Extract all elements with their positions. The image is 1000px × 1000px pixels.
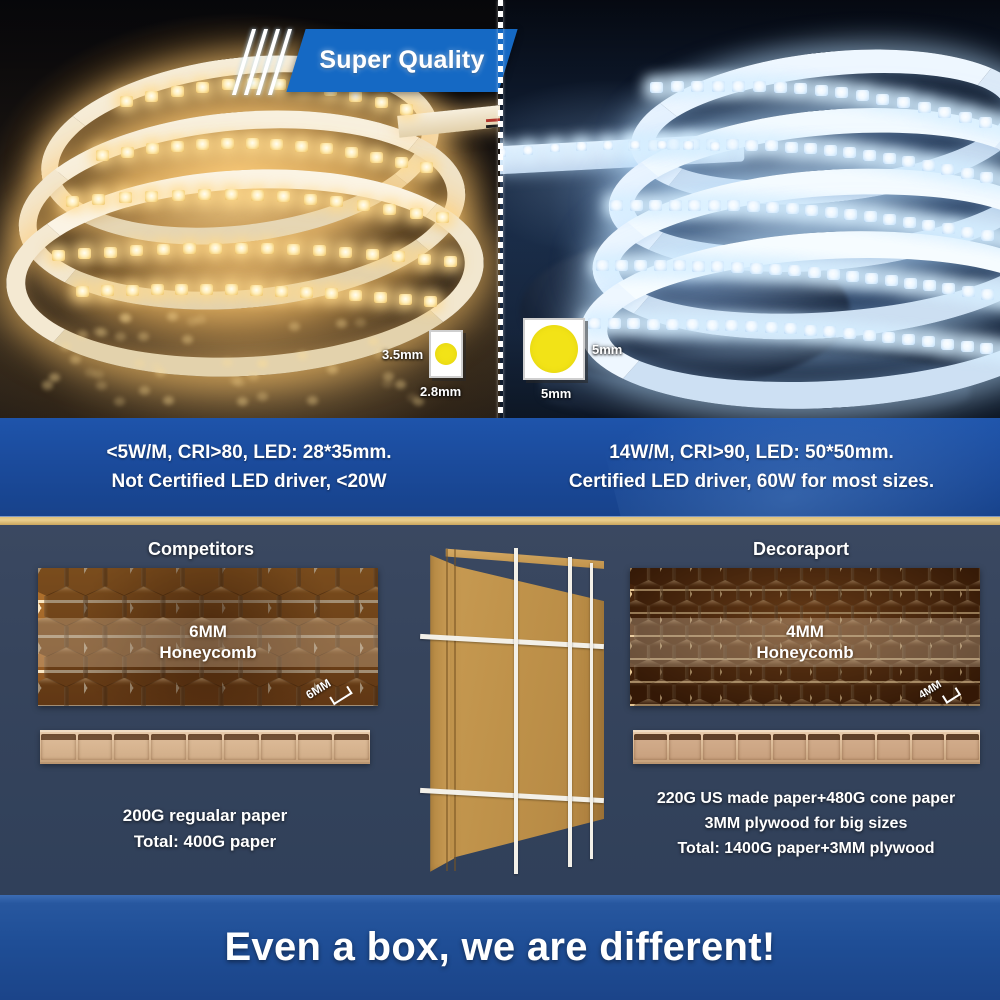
led-reflection	[395, 380, 406, 389]
cross-section-cell	[773, 734, 806, 760]
led-dot	[883, 214, 896, 225]
led-reflection	[230, 376, 241, 385]
led-dot	[883, 153, 896, 164]
led-dot	[596, 260, 609, 271]
box-side-panel	[420, 545, 454, 875]
cross-section-cells-right	[633, 734, 980, 760]
cross-section-cell	[946, 734, 979, 760]
led-reflection	[182, 335, 193, 344]
led-dot	[357, 200, 370, 211]
led-dot	[96, 150, 109, 161]
cross-section-cell	[78, 734, 113, 760]
led-dot	[959, 112, 972, 123]
led-reflection	[355, 318, 366, 327]
led-reflection	[115, 332, 126, 341]
led-dot	[825, 207, 838, 218]
led-dot	[183, 243, 196, 254]
led-dot	[815, 85, 828, 96]
led-dot	[864, 211, 877, 222]
led-dot	[66, 196, 79, 207]
led-dot	[683, 141, 693, 150]
led-dot	[630, 200, 643, 211]
led-reflection	[60, 342, 71, 351]
led-dot	[843, 147, 856, 158]
led-dot	[706, 320, 719, 331]
led-dot	[692, 261, 705, 272]
led-dot	[121, 147, 134, 158]
led-reflection	[114, 397, 125, 406]
led-dot	[287, 244, 300, 255]
cross-section-cell	[334, 734, 369, 760]
led-dot	[784, 323, 797, 334]
led-dot	[885, 275, 898, 286]
box-front-panel	[450, 545, 604, 875]
spec-left-line-2: Not Certified LED driver, <20W	[111, 471, 386, 493]
led-reflection	[289, 322, 300, 331]
pkg-right-line-3: Total: 1400G paper+3MM plywood	[620, 837, 992, 862]
led-dot	[727, 200, 740, 211]
led-reflection	[42, 382, 53, 391]
spec-column-decoraport: 14W/M, CRI>90, LED: 50*50mm. Certified L…	[503, 418, 1000, 516]
cross-section-cells-left	[40, 734, 370, 760]
super-quality-label: Super Quality	[296, 29, 508, 92]
packed-cardboard-box	[418, 545, 604, 875]
led-dot	[615, 260, 628, 271]
led-dot	[981, 289, 994, 300]
led-dot	[630, 141, 640, 150]
led-dot	[938, 107, 951, 118]
cross-section-cell	[114, 734, 149, 760]
led-dot	[444, 256, 457, 267]
cross-section-cell	[808, 734, 841, 760]
led-dot	[247, 78, 260, 89]
led-reflection	[407, 393, 418, 402]
cross-section-cell	[912, 734, 945, 760]
chip-height-label-small: 3.5mm	[382, 347, 423, 362]
led-dot	[918, 102, 931, 113]
led-dot	[400, 104, 413, 115]
box-strap-vertical	[568, 557, 572, 867]
led-dot	[731, 262, 744, 273]
packaging-comparison-section: Competitors Decoraport 6MM Honeycomb 6MM…	[0, 525, 1000, 895]
box-seam	[454, 549, 456, 871]
honeycomb-size-word-right: Honeycomb	[756, 643, 853, 663]
led-dot	[922, 160, 935, 171]
led-dot	[863, 330, 876, 341]
led-dot	[726, 139, 739, 150]
led-dot	[882, 332, 895, 343]
led-dot	[794, 83, 807, 94]
led-dot	[550, 144, 560, 153]
box-strap-vertical	[590, 563, 593, 859]
led-dot	[673, 260, 686, 271]
led-dot	[865, 273, 878, 284]
led-dot	[856, 90, 869, 101]
spec-left-line-1: <5W/M, CRI>80, LED: 28*35mm.	[106, 442, 391, 464]
led-reflection	[139, 386, 150, 395]
led-dot	[200, 284, 213, 295]
led-dot	[410, 208, 423, 219]
led-reflection	[134, 359, 145, 368]
cross-section-cell	[703, 734, 736, 760]
chip-height-label-large: 5mm	[592, 342, 622, 357]
led-dot	[145, 91, 158, 102]
led-dot	[246, 138, 259, 149]
led-dot	[863, 150, 876, 161]
led-dot	[277, 191, 290, 202]
packaging-spec-competitors: 200G regualar paper Total: 400G paper	[30, 803, 380, 856]
led-dot	[235, 243, 248, 254]
led-dot	[304, 194, 317, 205]
led-dot	[52, 250, 65, 261]
led-dot	[339, 247, 352, 258]
led-dot	[650, 82, 663, 93]
honeycomb-cross-section-competitors	[40, 730, 370, 764]
led-reflection	[187, 317, 198, 326]
led-reflection	[248, 372, 259, 381]
spec-right-line-1: 14W/M, CRI>90, LED: 50*50mm.	[609, 442, 894, 464]
led-dot	[157, 244, 170, 255]
led-dot	[750, 263, 763, 274]
led-dot	[76, 286, 89, 297]
led-dot	[979, 117, 992, 128]
tagline-text: Even a box, we are different!	[224, 925, 775, 970]
led-dot	[835, 87, 848, 98]
led-dot	[786, 203, 799, 214]
column-title-competitors: Competitors	[148, 539, 254, 560]
led-dot	[126, 285, 139, 296]
led-dot	[657, 141, 667, 150]
led-dot	[765, 140, 778, 151]
led-dot	[649, 200, 662, 211]
infographic-page: Super Quality 3.5mm 2.8mm 5mm 5mm <5W/M,…	[0, 0, 1000, 1000]
led-dot	[941, 339, 954, 350]
led-dot	[745, 140, 758, 151]
led-dot	[275, 286, 288, 297]
led-dot	[366, 249, 379, 260]
led-dot	[225, 189, 238, 200]
led-dot	[101, 285, 114, 296]
led-dot	[745, 321, 758, 332]
honeycomb-cross-section-decoraport	[633, 730, 980, 764]
led-dot	[374, 292, 387, 303]
led-dot	[320, 143, 333, 154]
cross-section-cell	[877, 734, 910, 760]
led-dot	[961, 341, 974, 352]
led-reflection	[336, 319, 347, 328]
led-reflection	[97, 328, 108, 337]
led-dot	[747, 201, 760, 212]
honeycomb-size-overlay-right: 4MM Honeycomb	[630, 618, 980, 668]
box-strap-vertical	[514, 548, 518, 874]
honeycomb-size-word-left: Honeycomb	[159, 643, 256, 663]
led-dot	[634, 260, 647, 271]
led-dot	[902, 334, 915, 345]
chip-phosphor-dot	[530, 325, 578, 373]
led-chip-icon-small	[429, 330, 463, 378]
led-reflection	[327, 365, 338, 374]
led-dot	[78, 248, 91, 259]
led-dot	[300, 287, 313, 298]
led-dot	[961, 168, 974, 179]
led-dot	[221, 138, 234, 149]
led-dot	[804, 143, 817, 154]
chip-width-label-small: 2.8mm	[420, 384, 461, 399]
led-reflection	[96, 381, 107, 390]
led-dot	[823, 326, 836, 337]
pkg-left-line-1: 200G regualar paper	[30, 803, 380, 829]
led-dot	[172, 190, 185, 201]
led-dot	[222, 79, 235, 90]
led-dot	[922, 220, 935, 231]
led-dot	[824, 145, 837, 156]
led-reflection	[368, 337, 379, 346]
chip-phosphor-dot	[435, 343, 457, 365]
led-reflection	[257, 392, 268, 401]
led-dot	[686, 319, 699, 330]
led-dot	[146, 143, 159, 154]
led-dot	[876, 94, 889, 105]
chip-width-label-large: 5mm	[541, 386, 571, 401]
gold-separator-strip	[0, 516, 1000, 525]
led-dot	[671, 81, 684, 92]
led-dot	[827, 269, 840, 280]
led-dot	[345, 147, 358, 158]
cross-section-cell	[261, 734, 296, 760]
led-dot	[808, 267, 821, 278]
led-dot	[753, 81, 766, 92]
honeycomb-image-decoraport: 4MM Honeycomb 4MM	[630, 568, 980, 706]
led-chip-callout-large: 5mm 5mm	[523, 318, 622, 380]
led-dot	[610, 200, 623, 211]
led-dot	[942, 223, 955, 234]
led-reflection	[222, 358, 233, 367]
honeycomb-size-value-right: 4MM	[786, 622, 824, 642]
led-dot	[688, 200, 701, 211]
led-dot	[349, 290, 362, 301]
cross-section-cell	[188, 734, 223, 760]
led-chip-callout-small: 3.5mm 2.8mm	[382, 330, 463, 378]
honeycomb-image-competitors: 6MM Honeycomb 6MM	[38, 568, 378, 706]
led-dot	[897, 97, 910, 108]
led-dot	[903, 217, 916, 228]
led-dot	[804, 325, 817, 336]
led-dot	[418, 254, 431, 265]
led-reflection	[257, 359, 268, 368]
led-dot	[774, 82, 787, 93]
cross-section-cell	[738, 734, 771, 760]
led-dot	[691, 81, 704, 92]
led-dot	[654, 260, 667, 271]
led-dot	[576, 142, 586, 151]
led-dot	[151, 284, 164, 295]
led-dot	[420, 162, 433, 173]
led-dot	[330, 196, 343, 207]
led-dot	[399, 294, 412, 305]
led-dot	[175, 284, 188, 295]
led-dot	[392, 251, 405, 262]
led-dot	[523, 146, 533, 155]
honeycomb-size-overlay-left: 6MM Honeycomb	[38, 618, 378, 668]
led-reflection	[155, 368, 166, 377]
led-dot	[383, 204, 396, 215]
led-dot	[375, 97, 388, 108]
led-dot	[198, 189, 211, 200]
specification-band: <5W/M, CRI>80, LED: 28*35mm. Not Certifi…	[0, 418, 1000, 516]
led-dot	[395, 157, 408, 168]
led-reflection	[49, 373, 60, 382]
led-dot	[295, 141, 308, 152]
led-dot	[313, 245, 326, 256]
led-dot	[261, 243, 274, 254]
led-dot	[104, 247, 117, 258]
led-dot	[603, 141, 613, 150]
pkg-right-line-1: 220G US made paper+480G cone paper	[620, 787, 992, 812]
led-reflection	[138, 332, 149, 341]
led-dot	[209, 243, 222, 254]
led-dot	[708, 200, 721, 211]
led-dot	[250, 285, 263, 296]
box-seam	[446, 549, 448, 871]
led-dot	[941, 164, 954, 175]
led-dot	[844, 209, 857, 220]
led-reflection	[70, 355, 81, 364]
led-dot	[225, 284, 238, 295]
led-dot	[370, 152, 383, 163]
honeycomb-size-value-left: 6MM	[189, 622, 227, 642]
led-dot	[725, 320, 738, 331]
column-title-decoraport: Decoraport	[753, 539, 849, 560]
led-dot	[436, 212, 449, 223]
led-dot	[923, 280, 936, 291]
led-reflection	[167, 312, 178, 321]
led-dot	[980, 172, 993, 183]
led-dot	[196, 82, 209, 93]
led-dot	[270, 139, 283, 150]
led-dot	[902, 156, 915, 167]
tagline-band: Even a box, we are different!	[0, 895, 1000, 1000]
led-dot	[843, 328, 856, 339]
led-dot	[805, 205, 818, 216]
led-dot	[666, 319, 679, 330]
led-dot	[712, 81, 725, 92]
cross-section-cell	[224, 734, 259, 760]
cross-section-cell	[151, 734, 186, 760]
led-reflection	[297, 351, 308, 360]
led-dot	[130, 245, 143, 256]
led-dot	[846, 271, 859, 282]
led-dot	[922, 336, 935, 347]
led-dot	[145, 191, 158, 202]
cross-section-cell	[634, 734, 667, 760]
led-dot	[119, 192, 132, 203]
cross-section-cell	[842, 734, 875, 760]
led-dot	[424, 296, 437, 307]
cross-section-cell	[41, 734, 76, 760]
led-reflection	[163, 396, 174, 405]
led-dot	[961, 227, 974, 238]
led-dot	[627, 318, 640, 329]
led-chip-icon-large	[523, 318, 585, 380]
led-reflection	[237, 397, 248, 406]
led-dot	[785, 142, 798, 153]
led-reflection	[121, 314, 132, 323]
led-dot	[325, 288, 338, 299]
led-dot	[349, 91, 362, 102]
spec-right-line-2: Certified LED driver, 60W for most sizes…	[569, 471, 934, 493]
led-dot	[788, 265, 801, 276]
packaging-spec-decoraport: 220G US made paper+480G cone paper 3MM p…	[620, 787, 992, 861]
led-dot	[962, 286, 975, 297]
cross-section-cell	[669, 734, 702, 760]
led-dot	[669, 200, 682, 211]
led-dot	[196, 139, 209, 150]
led-dot	[769, 264, 782, 275]
led-dot	[711, 261, 724, 272]
led-dot	[765, 322, 778, 333]
led-dot	[942, 283, 955, 294]
pkg-right-line-2: 3MM plywood for big sizes	[620, 812, 992, 837]
led-dot	[251, 190, 264, 201]
led-dot	[171, 86, 184, 97]
led-dot	[647, 319, 660, 330]
led-dot	[92, 194, 105, 205]
cross-section-cell	[298, 734, 333, 760]
led-dot	[171, 141, 184, 152]
led-dot	[273, 79, 286, 90]
led-dot	[710, 142, 720, 151]
led-dot	[904, 278, 917, 289]
led-dot	[981, 230, 994, 241]
led-dot	[667, 139, 680, 150]
spec-column-competitor: <5W/M, CRI>80, LED: 28*35mm. Not Certifi…	[0, 418, 498, 516]
led-dot	[766, 202, 779, 213]
led-dot	[980, 343, 993, 354]
led-reflection	[77, 330, 88, 339]
pkg-left-line-2: Total: 400G paper	[30, 829, 380, 855]
led-dot	[120, 96, 133, 107]
led-dot	[732, 81, 745, 92]
super-quality-banner: Super Quality	[286, 29, 517, 92]
led-reflection	[307, 396, 318, 405]
